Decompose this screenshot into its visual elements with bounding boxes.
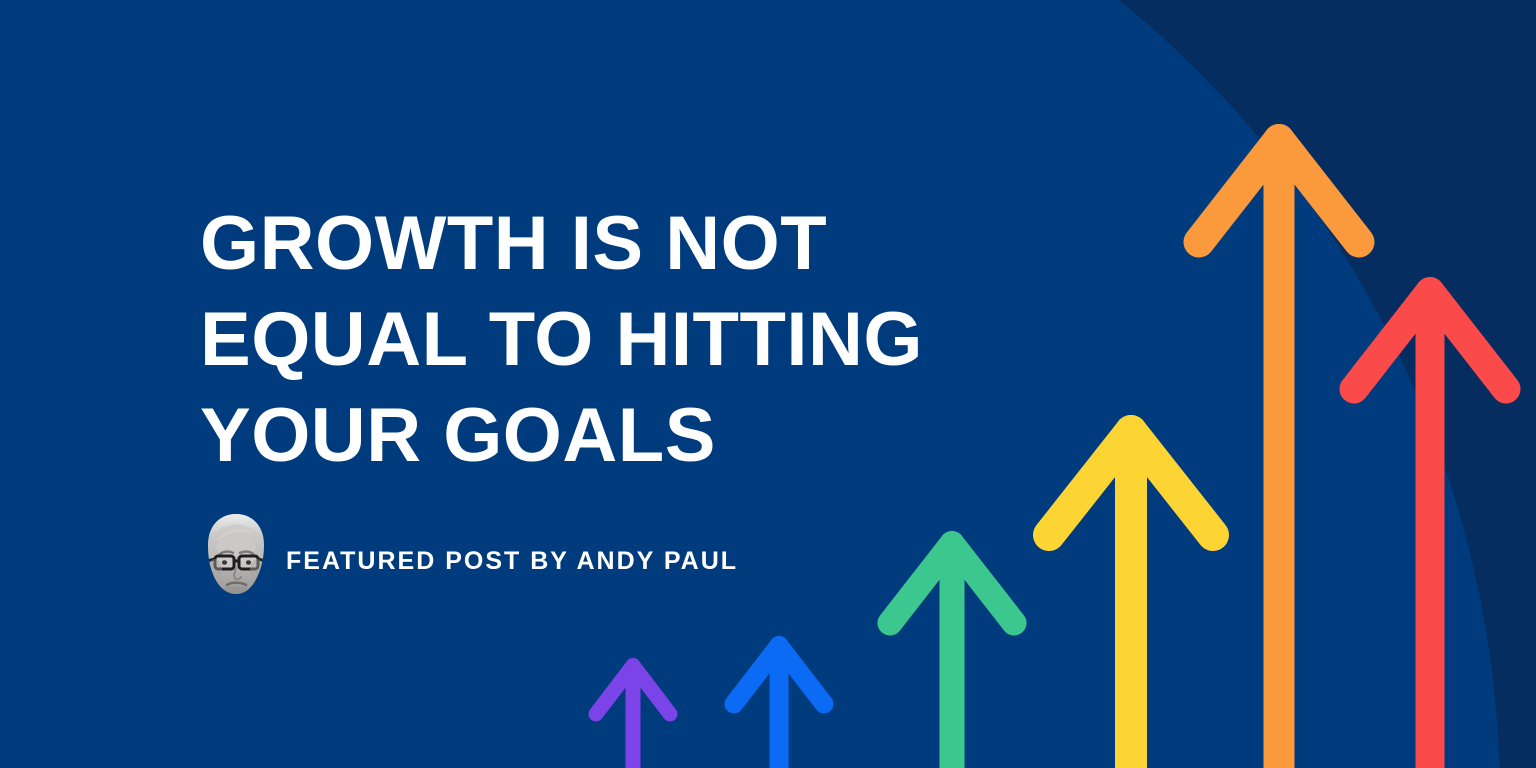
- headline-line-2: EQUAL TO HITTING: [200, 292, 1080, 388]
- avatar: [200, 512, 272, 594]
- author-portrait-icon: [200, 512, 272, 594]
- byline-label: FEATURED POST BY ANDY PAUL: [286, 547, 738, 594]
- arrow-blue: [734, 646, 824, 768]
- banner-content: GROWTH IS NOT EQUAL TO HITTING YOUR GOAL…: [200, 196, 1100, 594]
- page-title: GROWTH IS NOT EQUAL TO HITTING YOUR GOAL…: [200, 196, 1080, 484]
- arrow-orange: [1199, 140, 1359, 768]
- headline-line-3: YOUR GOALS: [200, 388, 1080, 484]
- featured-post-banner: GROWTH IS NOT EQUAL TO HITTING YOUR GOAL…: [0, 0, 1536, 768]
- byline: FEATURED POST BY ANDY PAUL: [200, 512, 1100, 594]
- arrow-red: [1354, 292, 1506, 768]
- headline-line-1: GROWTH IS NOT: [200, 196, 1080, 292]
- arrow-purple: [596, 666, 670, 768]
